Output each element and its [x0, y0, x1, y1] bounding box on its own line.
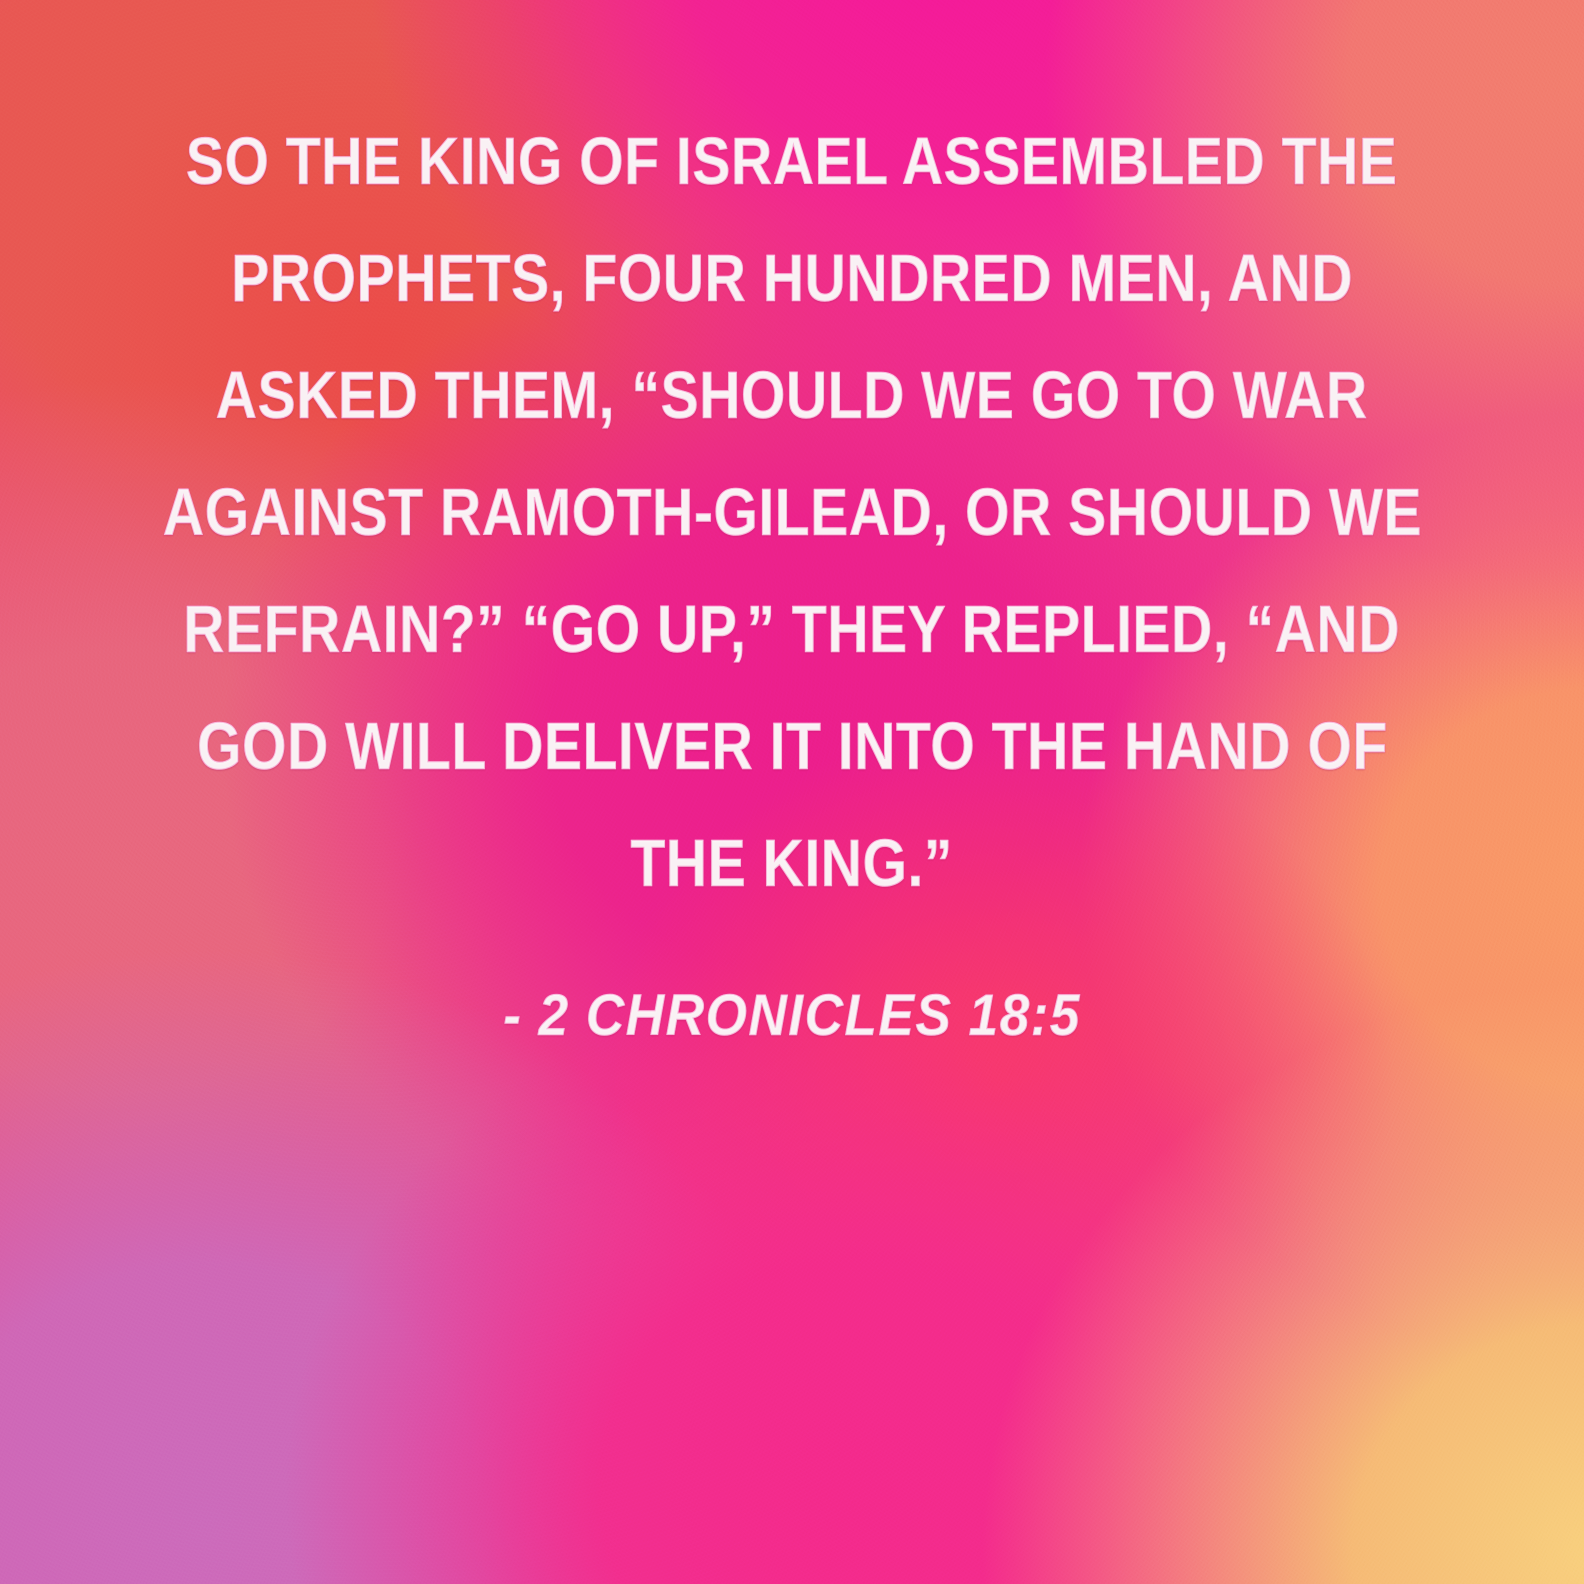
verse-line: SO THE KING OF ISRAEL ASSEMBLED THE	[186, 128, 1398, 195]
verse-image-canvas: SO THE KING OF ISRAEL ASSEMBLED THE PROP…	[0, 0, 1584, 1584]
verse-line: AGAINST RAMOTH-GILEAD, OR SHOULD WE	[162, 479, 1421, 546]
verse-line: THE KING.”	[631, 830, 954, 897]
verse-line: GOD WILL DELIVER IT INTO THE HAND OF	[197, 713, 1388, 780]
verse-attribution: - 2 CHRONICLES 18:5	[503, 987, 1081, 1045]
verse-line: PROPHETS, FOUR HUNDRED MEN, AND	[231, 245, 1353, 312]
verse-text-block: SO THE KING OF ISRAEL ASSEMBLED THE PROP…	[0, 128, 1584, 1045]
verse-line: REFRAIN?” “GO UP,” THEY REPLIED, “AND	[184, 596, 1401, 663]
verse-line: ASKED THEM, “SHOULD WE GO TO WAR	[216, 362, 1368, 429]
